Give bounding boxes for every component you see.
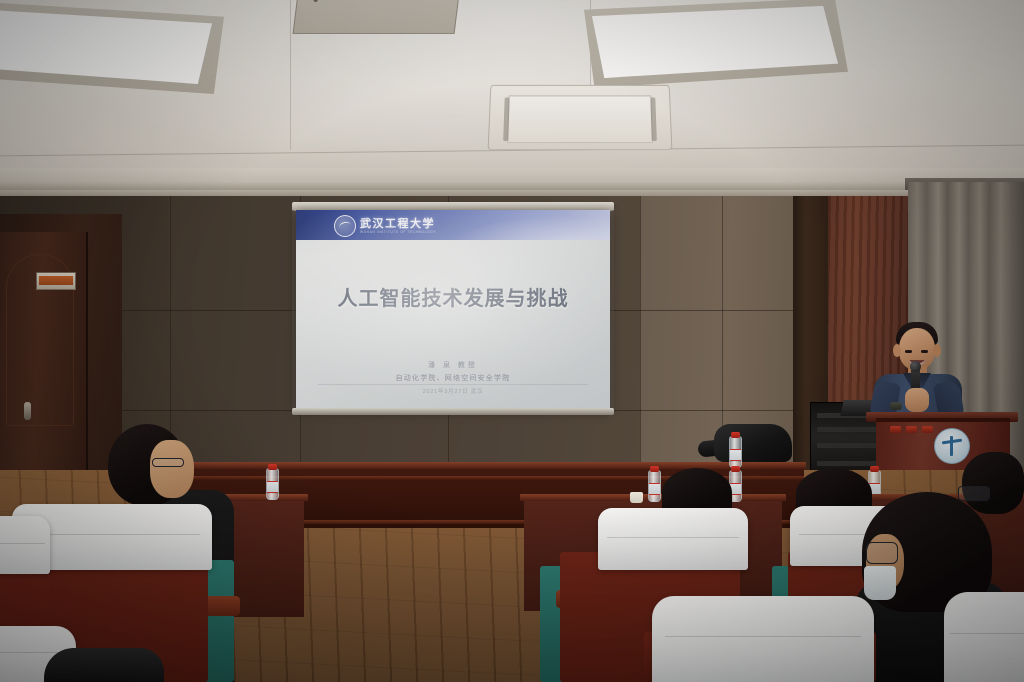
ceiling-access-hatch	[293, 0, 460, 34]
water-bottle[interactable]	[648, 470, 661, 502]
ceiling-ac-vent	[488, 85, 673, 150]
eyeglasses-icon	[152, 458, 184, 467]
projector-screen-weight-bar	[292, 408, 614, 415]
speaker-eye-right	[921, 350, 928, 353]
podium-control-button[interactable]	[890, 426, 901, 433]
door-handle-icon[interactable]	[24, 402, 31, 420]
screen-glare	[296, 210, 610, 410]
speaker-wristwatch	[890, 402, 902, 410]
eyeglasses-icon	[958, 486, 990, 501]
ac-vent-inner-panel	[507, 95, 653, 143]
attendee-upper-right-head	[962, 452, 1024, 514]
speaker-eye-left	[905, 350, 912, 353]
speaker-ear-right	[933, 344, 941, 357]
podium-control-button[interactable]	[922, 426, 933, 433]
paper-cup[interactable]	[630, 492, 643, 503]
attendee-bottom-left	[44, 648, 164, 682]
lecture-hall-photo: 武汉工程大学 WUHAN INSTITUTE OF TECHNOLOGY 人工智…	[0, 0, 1024, 682]
water-bottle[interactable]	[729, 436, 742, 468]
face-mask-icon	[864, 566, 896, 600]
back-desk-top	[166, 462, 806, 469]
podium-control-button[interactable]	[906, 426, 917, 433]
speaker-hands	[905, 388, 929, 412]
attendee-left-face	[150, 440, 194, 498]
eyeglasses-icon	[866, 542, 898, 564]
projection-screen: 武汉工程大学 WUHAN INSTITUTE OF TECHNOLOGY 人工智…	[296, 210, 610, 410]
podium-crest-icon	[934, 428, 970, 464]
speaker-ear-left	[893, 344, 901, 357]
ceiling-seam-vertical	[290, 0, 291, 150]
black-bag-on-desk	[714, 424, 792, 462]
entrance-door[interactable]	[0, 232, 88, 486]
water-bottle[interactable]	[266, 468, 279, 500]
door-sign-plaque	[36, 272, 76, 290]
